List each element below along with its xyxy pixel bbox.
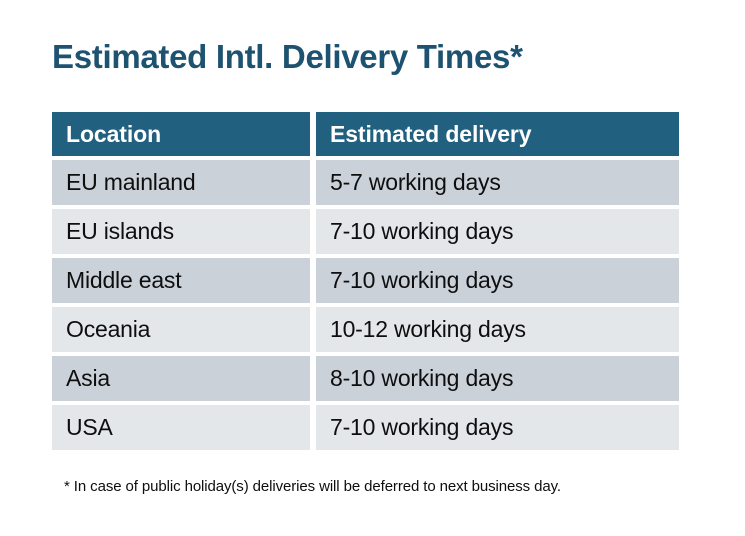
cell-delivery: 8-10 working days bbox=[316, 356, 679, 401]
cell-location: Middle east bbox=[52, 258, 310, 303]
column-header-location: Location bbox=[52, 112, 310, 156]
cell-delivery: 7-10 working days bbox=[316, 258, 679, 303]
table-row: USA 7-10 working days bbox=[52, 405, 679, 450]
table-row: Asia 8-10 working days bbox=[52, 356, 679, 401]
cell-delivery: 7-10 working days bbox=[316, 209, 679, 254]
table-row: EU islands 7-10 working days bbox=[52, 209, 679, 254]
cell-location: EU islands bbox=[52, 209, 310, 254]
cell-delivery: 7-10 working days bbox=[316, 405, 679, 450]
delivery-times-page: Estimated Intl. Delivery Times* Location… bbox=[0, 0, 745, 536]
column-header-delivery: Estimated delivery bbox=[316, 112, 679, 156]
table-body: EU mainland 5-7 working days EU islands … bbox=[52, 160, 679, 450]
table-row: Middle east 7-10 working days bbox=[52, 258, 679, 303]
cell-location: USA bbox=[52, 405, 310, 450]
cell-delivery: 10-12 working days bbox=[316, 307, 679, 352]
table-row: EU mainland 5-7 working days bbox=[52, 160, 679, 205]
cell-delivery: 5-7 working days bbox=[316, 160, 679, 205]
table-header-row: Location Estimated delivery bbox=[52, 112, 679, 156]
table-header: Location Estimated delivery bbox=[52, 112, 679, 156]
page-title: Estimated Intl. Delivery Times* bbox=[52, 36, 523, 78]
cell-location: Asia bbox=[52, 356, 310, 401]
delivery-times-table: Location Estimated delivery EU mainland … bbox=[46, 108, 685, 454]
table-row: Oceania 10-12 working days bbox=[52, 307, 679, 352]
cell-location: EU mainland bbox=[52, 160, 310, 205]
cell-location: Oceania bbox=[52, 307, 310, 352]
footnote: * In case of public holiday(s) deliverie… bbox=[64, 478, 561, 495]
